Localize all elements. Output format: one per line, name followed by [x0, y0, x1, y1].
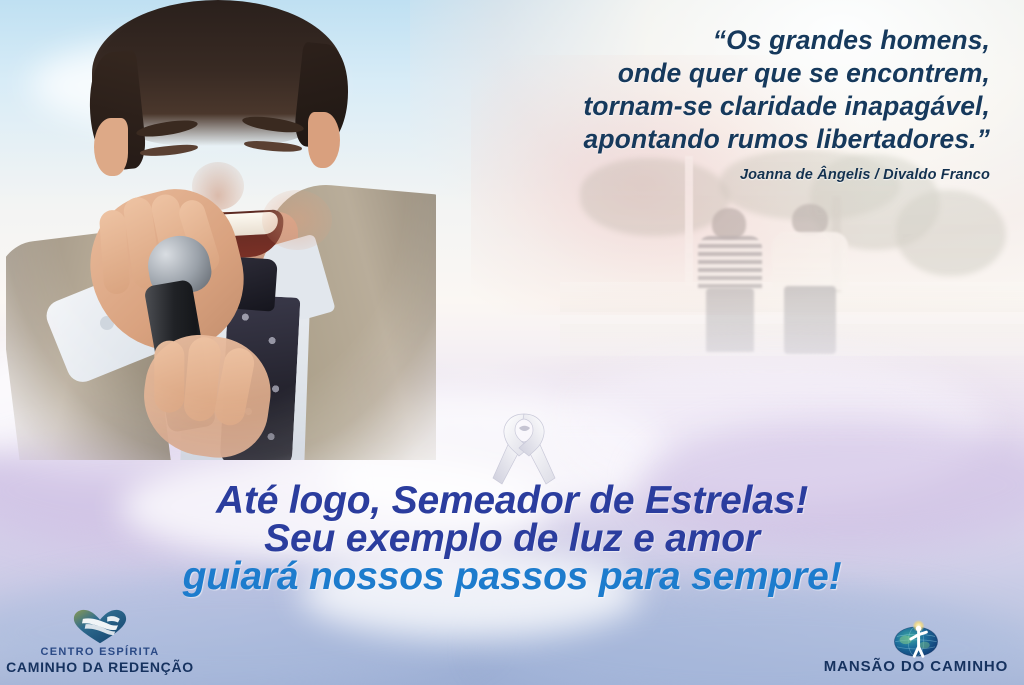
headline-block: Até logo, Semeador de Estrelas! Seu exem…	[0, 482, 1024, 596]
quote-line-3: tornam-se claridade inapagável,	[430, 90, 990, 123]
memorial-poster: “Os grandes homens, onde quer que se enc…	[0, 0, 1024, 685]
logo-name-line-1: CENTRO ESPÍRITA	[4, 646, 196, 658]
scene-walker-light	[770, 204, 854, 354]
quote-attribution: Joanna de Ângelis / Divaldo Franco	[430, 167, 990, 183]
scene-foliage	[896, 190, 1006, 276]
logo-centro-espirita: CENTRO ESPÍRITA CAMINHO DA REDENÇÃO	[4, 609, 196, 675]
logo-name-line-2: CAMINHO DA REDENÇÃO	[4, 659, 196, 675]
headline-line-1: Até logo, Semeador de Estrelas!	[0, 482, 1024, 520]
logo-mansao-do-caminho: MANSÃO DO CAMINHO	[814, 621, 1018, 675]
quote-line-2: onde quer que se encontrem,	[430, 57, 990, 90]
quote-block: “Os grandes homens, onde quer que se enc…	[430, 24, 990, 183]
quote-line-1: “Os grandes homens,	[430, 24, 990, 57]
awareness-ribbon-icon	[489, 408, 559, 486]
background-photo-two-walkers	[560, 150, 1024, 450]
portrait-divaldo-franco	[6, 0, 436, 460]
logo-name-line-2: MANSÃO DO CAMINHO	[814, 658, 1018, 675]
heart-hands-icon	[4, 609, 196, 645]
portrait-cheek	[262, 190, 332, 250]
quote-line-4: apontando rumos libertadores.”	[430, 123, 990, 156]
headline-line-3: guiará nossos passos para sempre!	[0, 558, 1024, 596]
headline-line-2: Seu exemplo de luz e amor	[0, 520, 1024, 558]
scene-walker-striped	[694, 208, 770, 352]
globe-sower-icon	[814, 621, 1018, 657]
